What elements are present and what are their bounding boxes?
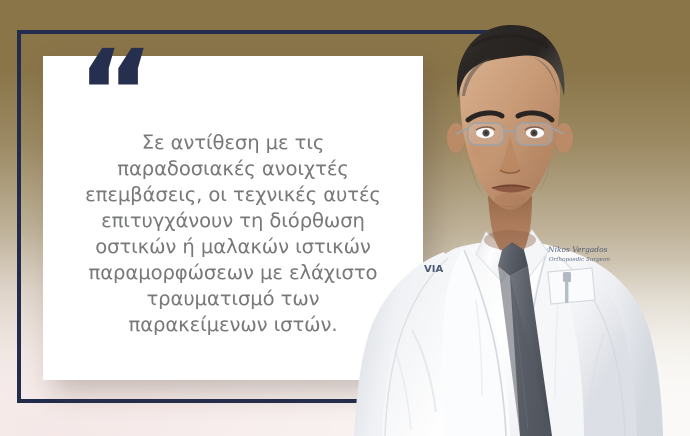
quote-line: επεμβάσεις, οι τεχνικές αυτές [85, 183, 381, 206]
head [447, 25, 573, 210]
embroidery-title: Orthopaedic Surgeon [549, 257, 610, 263]
doctor-portrait: VIA Nikos Vergados Orthopaedic Surgeon [352, 0, 690, 436]
quote-card-graphic: “ Σε αντίθεση με τιςπαραδοσιακές ανοιχτέ… [0, 0, 690, 436]
quote-line: Σε αντίθεση με τις [142, 131, 325, 154]
quote-line: τραυματισμό των [146, 287, 319, 310]
coat-logo-badge: VIA [424, 264, 443, 275]
quote-line: επιτυγχάνουν τη διόρθωση [101, 209, 365, 232]
embroidery-name: Nikos Vergados [547, 245, 608, 254]
coat-pocket [548, 268, 595, 304]
quote-line: παρακείμενων ιστών. [129, 313, 338, 336]
quote-line: παραμορφώσεων με ελάχιστο [89, 261, 378, 284]
quote-line: παραδοσιακές ανοιχτές [117, 157, 348, 180]
quote-line: οστικών ή μαλακών ιστικών [95, 235, 371, 258]
coat-logo-text: VIA [424, 264, 443, 275]
